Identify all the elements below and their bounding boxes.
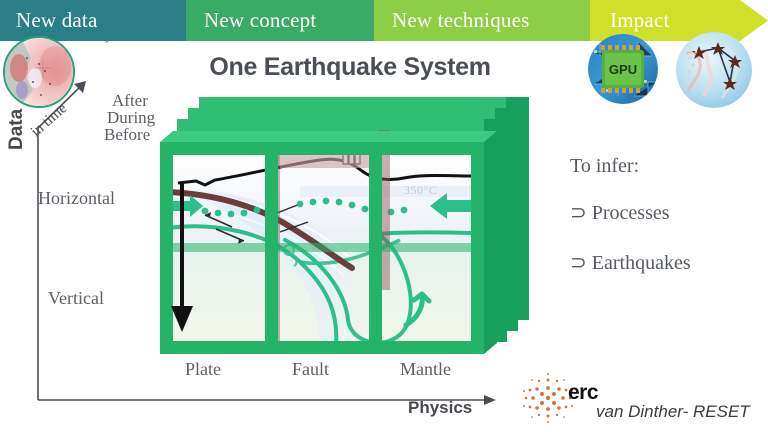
chevron-label-new-concept[interactable]: New concept xyxy=(204,0,316,41)
infer-item-earthquakes: ⊃ Earthquakes xyxy=(570,250,691,275)
depth-arrow xyxy=(171,183,193,332)
slide-root: New data New concept New techniques Impa… xyxy=(0,0,768,432)
row-label-vertical: Vertical xyxy=(48,288,104,309)
y-axis-label: Data xyxy=(6,109,28,150)
author-credit: van Dinther- RESET xyxy=(596,402,750,422)
row-label-horizontal: Horizontal xyxy=(38,188,115,209)
column-label-fault: Fault xyxy=(292,359,329,380)
infer-item-processes: ⊃ Processes xyxy=(570,200,670,225)
infer-heading: To infer: xyxy=(570,155,639,178)
svg-text:GPU: GPU xyxy=(609,62,637,77)
gpu-chip-image: GPU xyxy=(588,34,658,104)
seismic-map-image xyxy=(3,36,75,108)
erc-logo-text: erc xyxy=(568,381,598,405)
process-chevron-banner: New data New concept New techniques Impa… xyxy=(0,0,768,41)
chevron-label-new-data[interactable]: New data xyxy=(16,0,97,41)
chevron-label-new-techniques[interactable]: New techniques xyxy=(392,0,530,41)
column-label-plate: Plate xyxy=(185,359,221,380)
network-globe-image xyxy=(676,32,752,108)
erc-footer: erc van Dinther- RESET xyxy=(518,370,768,426)
column-label-mantle: Mantle xyxy=(400,359,451,380)
x-axis-label: Physics xyxy=(408,398,472,418)
page-title: One Earthquake System xyxy=(170,53,530,82)
time-layer-label-before: Before xyxy=(104,125,150,145)
